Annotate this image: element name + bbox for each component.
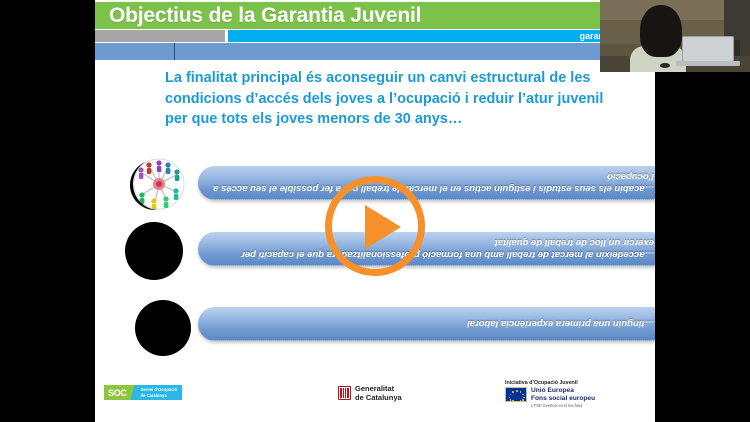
slide-header-divider	[174, 43, 175, 60]
generalitat-shield-icon	[338, 386, 351, 400]
objective-bar-3: …tinguin una primera experiència laboral	[198, 307, 655, 341]
objective-bar-3-text: …tinguin una primera experiència laboral	[198, 307, 655, 340]
bullet-circle-3	[135, 300, 191, 356]
eu-initiative-label: Iniciativa d’Ocupació Juvenil	[505, 380, 635, 386]
generalitat-logo: Generalitat de Catalunya	[338, 384, 402, 402]
objective-bar-2-text: …accedeixin al mercat de treball amb una…	[198, 232, 655, 265]
people-network-icon	[133, 158, 185, 210]
generalitat-wordmark: Generalitat de Catalunya	[355, 384, 402, 402]
webcam-mouse	[660, 63, 670, 68]
objective-bar-1: …acabin els seus estudis i estiguin acti…	[198, 166, 655, 200]
slide-header-blue-band	[95, 43, 655, 60]
eu-flag-icon	[505, 387, 527, 402]
webcam-person-hair	[640, 5, 682, 57]
objective-bar-2: …accedeixin al mercat de treball amb una…	[198, 232, 655, 266]
soc-logo-acronym: SOC	[104, 385, 131, 400]
soc-logo: SOC Servei d’Ocupació de Catalunya	[104, 385, 182, 400]
objective-bar-1-text: …acabin els seus estudis i estiguin acti…	[198, 166, 655, 199]
eu-line3: L’FSE inverteix en el teu futur	[531, 403, 595, 408]
eu-wordmark: Unió Europea Fons social europeu L’FSE i…	[531, 387, 595, 409]
webcam-overlay[interactable]	[600, 0, 750, 72]
video-player[interactable]: Objectius de la Garantia Juvenil garanti…	[0, 0, 750, 422]
webcam-laptop-base	[676, 61, 740, 66]
slide-footer: SOC Servei d’Ocupació de Catalunya Gener…	[95, 378, 655, 422]
generalitat-line2: de Catalunya	[355, 393, 402, 402]
generalitat-line1: Generalitat	[355, 384, 402, 393]
slide-header-grey-band	[95, 30, 225, 42]
eu-line1: Unió Europea	[531, 387, 595, 395]
slide-title: Objectius de la Garantia Juvenil	[109, 2, 421, 29]
eu-line2: Fons social europeu	[531, 395, 595, 403]
bullet-circle-2	[125, 222, 183, 280]
webcam-laptop-screen	[682, 36, 734, 62]
play-button[interactable]	[325, 176, 425, 276]
eu-logo: Iniciativa d’Ocupació Juvenil	[505, 380, 635, 409]
slide-lead-text: La finalitat principal és aconseguir un …	[165, 68, 605, 130]
soc-logo-line2: de Catalunya	[141, 393, 178, 398]
soc-logo-wordmark: Servei d’Ocupació de Catalunya	[138, 385, 183, 400]
soc-logo-slash	[131, 385, 138, 400]
